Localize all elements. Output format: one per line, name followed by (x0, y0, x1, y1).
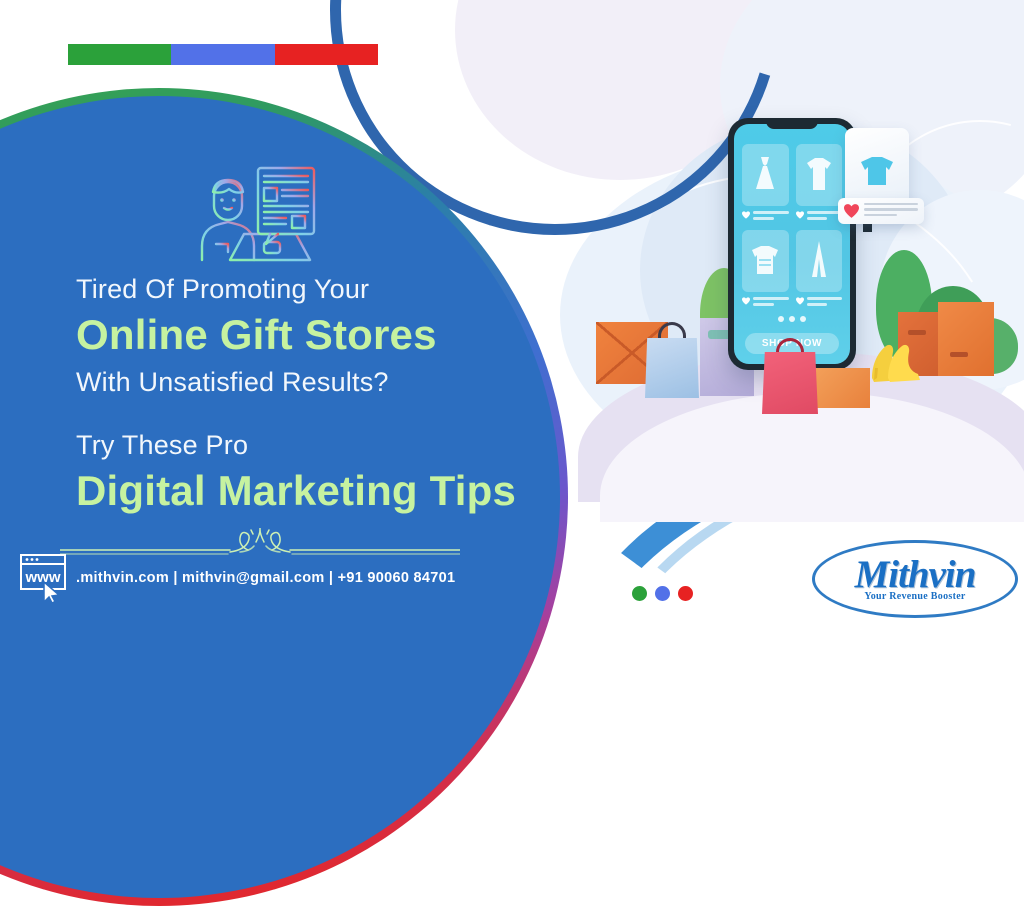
product-text-lines (807, 297, 843, 309)
product-image-blouse (742, 230, 789, 292)
product-card[interactable] (742, 230, 789, 309)
t-shirt-icon (859, 155, 895, 187)
phone-screen: SHOP NOW (734, 124, 850, 364)
rgb-dot-red (678, 586, 693, 601)
product-text-lines (807, 211, 843, 223)
logo-badge: Mithvin Your Revenue Booster (812, 540, 1018, 618)
headline-line-3: With Unsatisfied Results? (76, 369, 516, 396)
orange-box-right-2 (938, 302, 994, 376)
product-meta (742, 211, 789, 223)
heart-icon (742, 211, 750, 219)
blue-shopping-bag (645, 338, 699, 398)
smartphone-mockup: SHOP NOW (728, 118, 856, 370)
product-grid (742, 144, 842, 309)
page-dot (789, 316, 795, 322)
headline-block: Tired Of Promoting Your Online Gift Stor… (76, 276, 516, 512)
heart-icon (796, 297, 804, 305)
logo-text-wrap: Mithvin Your Revenue Booster (812, 540, 1018, 618)
heart-icon (742, 297, 750, 305)
rgb-accent-dots (632, 586, 693, 601)
box-tape (950, 352, 968, 357)
page-indicator-dots (778, 316, 806, 322)
product-image-pants (796, 230, 843, 292)
contact-text[interactable]: .mithvin.com | mithvin@gmail.com | +91 9… (76, 570, 455, 586)
rgb-dot-green (632, 586, 647, 601)
yellow-high-heels-icon (866, 334, 936, 386)
logo-name: Mithvin (855, 556, 976, 593)
product-meta (796, 211, 843, 223)
pants-icon (807, 239, 831, 283)
product-card[interactable] (796, 230, 843, 309)
logo-tagline: Your Revenue Booster (864, 591, 965, 602)
heart-icon (796, 211, 804, 219)
product-image-dress (742, 144, 789, 206)
product-card[interactable] (796, 144, 843, 223)
like-notification (838, 198, 924, 224)
person-at-laptop-icon (188, 162, 320, 268)
headline-line-2: Online Gift Stores (76, 314, 516, 356)
product-meta (742, 297, 789, 309)
headline-line-1: Tired Of Promoting Your (76, 276, 516, 303)
page-dot (778, 316, 784, 322)
phone-notch (766, 118, 818, 129)
page-dot (800, 316, 806, 322)
rgb-bar-segment-blue (171, 44, 274, 65)
product-text-lines (753, 297, 789, 309)
dress-icon (752, 155, 778, 195)
orange-box-front (814, 368, 870, 408)
rgb-bar-segment-red (275, 44, 378, 65)
blouse-icon (750, 244, 780, 278)
product-card[interactable] (742, 144, 789, 223)
notification-text-lines (864, 203, 918, 220)
pink-shopping-bag (762, 352, 818, 414)
product-meta (796, 297, 843, 309)
contact-row: www .mithvin.com | mithvin@gmail.com | +… (18, 552, 455, 604)
rgb-dot-blue (655, 586, 670, 601)
shirt-icon (805, 156, 833, 194)
heart-icon (844, 204, 859, 218)
product-text-lines (753, 211, 789, 223)
product-image-shirt (796, 144, 843, 206)
www-label: www (24, 569, 60, 586)
www-browser-icon: www (18, 552, 74, 604)
headline-line-5: Digital Marketing Tips (76, 470, 516, 512)
headline-line-4: Try These Pro (76, 432, 516, 459)
rgb-bar-segment-green (68, 44, 171, 65)
rgb-accent-bar (68, 44, 378, 65)
